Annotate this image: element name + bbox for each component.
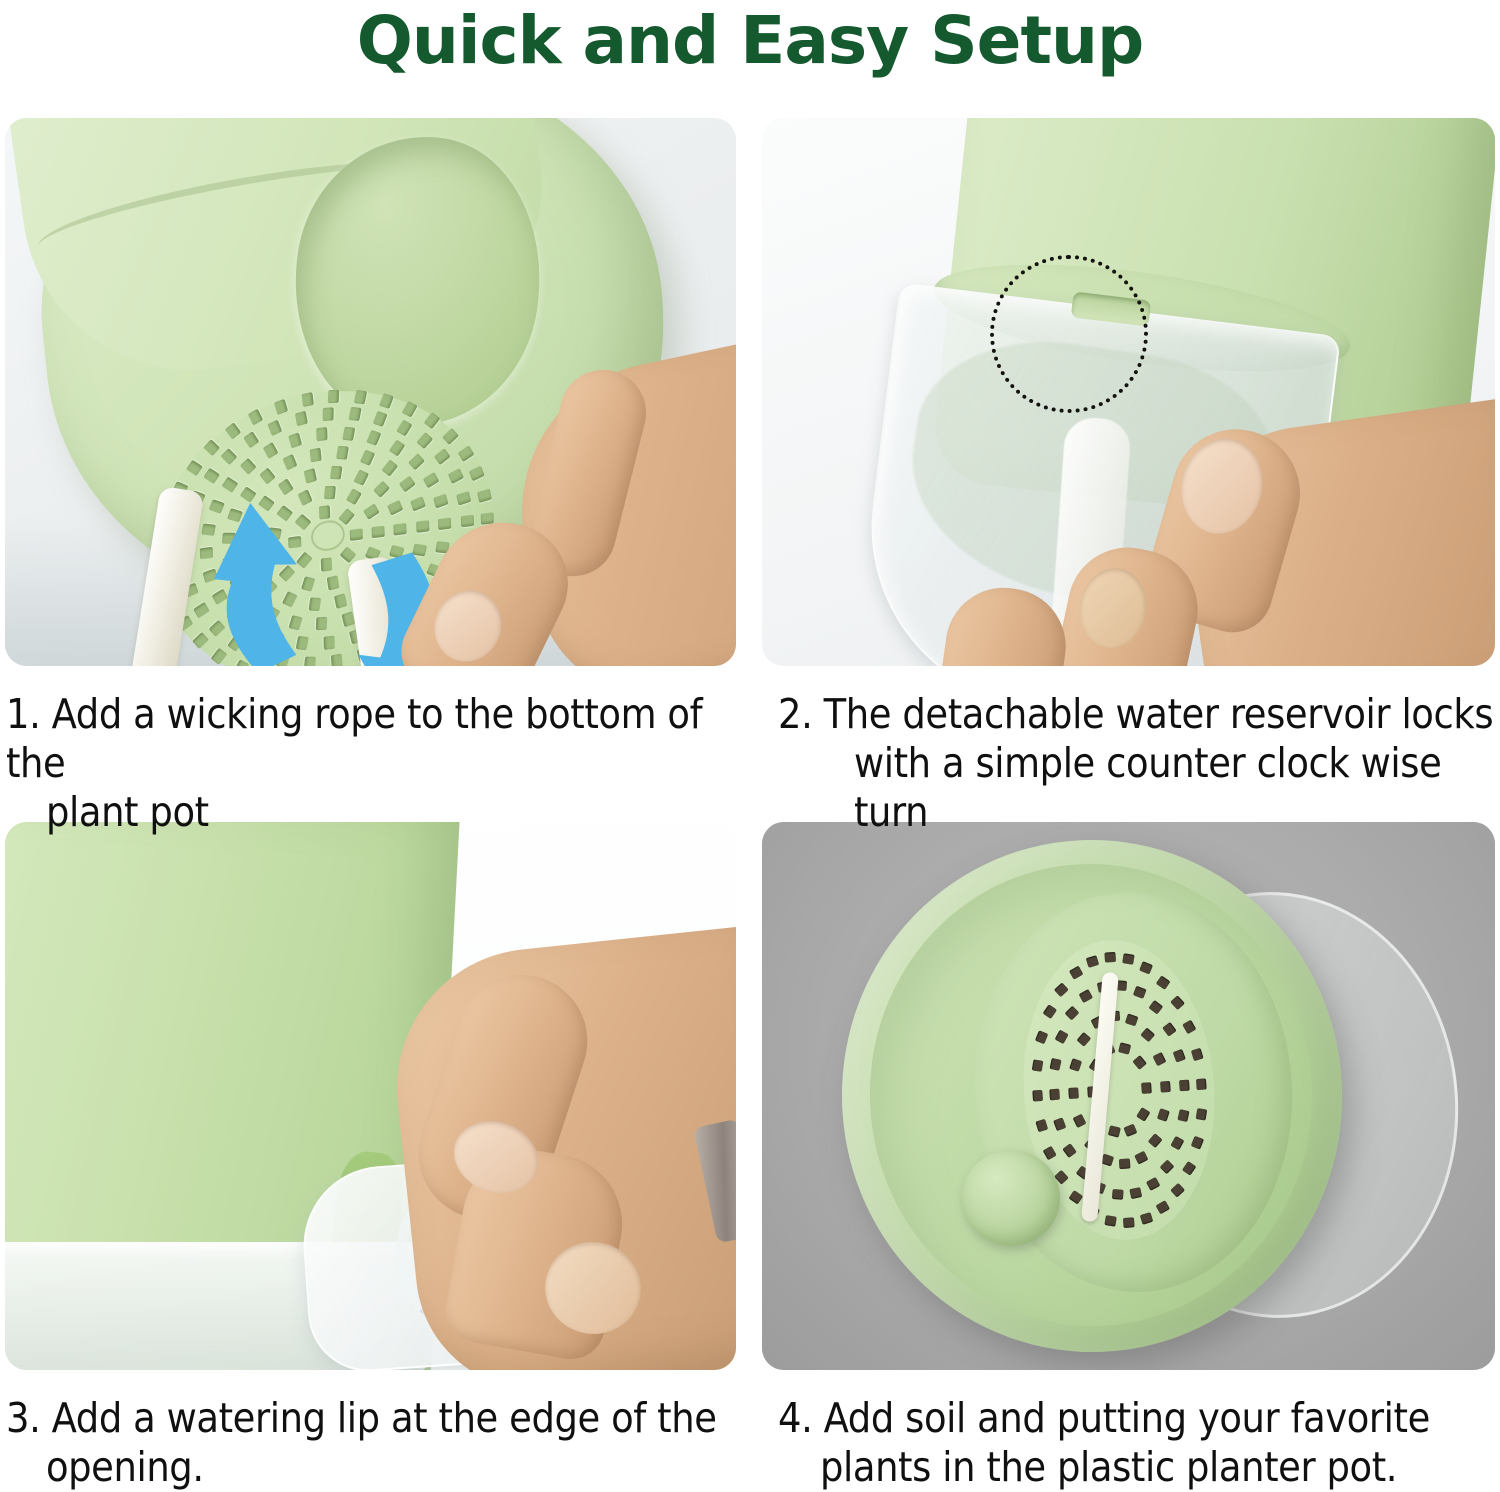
mesh-hole	[1035, 1030, 1048, 1044]
mesh-hole	[1122, 953, 1134, 965]
caption-line-2: with a simple counter clock wise turn	[778, 739, 1500, 837]
mesh-hole	[330, 466, 343, 480]
mesh-hole	[310, 447, 322, 462]
mesh-hole	[1050, 1058, 1062, 1071]
mesh-hole	[1069, 1058, 1082, 1072]
mesh-hole	[1146, 1177, 1160, 1191]
mesh-hole	[301, 392, 313, 407]
mesh-hole	[394, 523, 407, 536]
mesh-hole	[1086, 955, 1099, 968]
mesh-hole	[348, 407, 361, 421]
mesh-hole	[1156, 975, 1171, 989]
blue-arrow-up-icon	[194, 490, 332, 666]
mesh-hole	[1136, 1107, 1150, 1122]
mesh-hole	[1157, 1109, 1170, 1123]
mesh-hole	[1156, 1200, 1171, 1214]
mesh-hole	[1079, 989, 1093, 1003]
mesh-hole	[1190, 1048, 1203, 1061]
mesh-hole	[319, 505, 330, 519]
mesh-hole	[1140, 1212, 1153, 1225]
mesh-hole	[1170, 995, 1185, 1010]
mesh-hole	[1196, 1078, 1207, 1090]
mesh-hole	[1123, 1218, 1135, 1229]
mesh-hole	[1132, 1056, 1147, 1071]
mesh-hole	[1141, 1082, 1152, 1094]
caption-line-1: 2. The detachable water reservoir locks	[778, 690, 1493, 738]
mesh-hole	[1173, 1049, 1186, 1063]
step-4-image	[762, 822, 1495, 1370]
mesh-hole	[1069, 1087, 1080, 1099]
mesh-hole	[372, 526, 385, 539]
caption-line-2: plant pot	[6, 788, 746, 837]
caption-line-1: 4. Add soil and putting your favorite	[778, 1394, 1430, 1442]
mesh-hole	[342, 426, 355, 440]
mesh-hole	[1130, 1187, 1143, 1199]
mesh-hole	[1160, 1159, 1175, 1174]
mesh-hole	[1043, 1146, 1057, 1161]
setup-instructions-page: Quick and Easy Setup	[0, 0, 1500, 1477]
mesh-hole	[1104, 952, 1116, 963]
mesh-hole	[1053, 1117, 1066, 1131]
caption-line-1: 3. Add a watering lip at the edge of the	[6, 1394, 717, 1442]
mesh-hole	[1118, 1042, 1131, 1054]
mesh-hole	[349, 528, 362, 541]
mesh-hole	[1112, 1189, 1124, 1200]
step-2-image	[762, 118, 1495, 666]
mesh-hole	[1171, 1136, 1185, 1150]
mesh-hole	[438, 517, 451, 530]
mesh-hole	[1104, 1215, 1116, 1227]
mesh-hole	[1133, 986, 1147, 999]
dotted-highlight-circle	[990, 255, 1148, 413]
mesh-hole	[1141, 1028, 1156, 1043]
mesh-hole	[1160, 1081, 1171, 1093]
step-3-caption: 3. Add a watering lip at the edge of the…	[6, 1394, 746, 1492]
step-4-caption: 4. Add soil and putting your favorite pl…	[778, 1394, 1500, 1492]
step-2-caption: 2. The detachable water reservoir locks …	[778, 690, 1500, 837]
mesh-hole	[1036, 1118, 1049, 1131]
mesh-hole	[1043, 1004, 1057, 1019]
mesh-hole	[1068, 966, 1083, 980]
mesh-hole	[1062, 1143, 1077, 1158]
mesh-hole	[324, 486, 336, 499]
mesh-hole	[1195, 1108, 1207, 1120]
mesh-hole	[1054, 1030, 1068, 1044]
mesh-hole	[1153, 1051, 1167, 1065]
mesh-hole	[1135, 1150, 1149, 1164]
mesh-hole	[461, 515, 474, 528]
mesh-hole	[1190, 1136, 1203, 1150]
step-1-image	[5, 118, 736, 666]
mesh-hole	[336, 446, 349, 460]
mesh-hole	[1170, 1183, 1185, 1198]
mesh-hole	[1050, 1089, 1061, 1101]
mesh-hole	[1108, 1126, 1121, 1138]
mesh-hole	[1149, 1000, 1164, 1015]
mesh-hole	[1182, 1020, 1196, 1035]
mesh-hole	[1182, 1161, 1196, 1176]
mesh-hole	[1140, 961, 1154, 974]
step-1-caption: 1. Add a wicking rope to the bottom of t…	[6, 690, 746, 837]
mesh-hole	[322, 407, 333, 421]
pot-knob	[962, 1150, 1060, 1246]
mesh-hole	[1073, 1114, 1087, 1128]
mesh-hole	[416, 520, 429, 533]
mesh-hole	[1119, 1159, 1131, 1170]
caption-line-2: opening.	[6, 1443, 746, 1492]
mesh-hole	[1179, 1080, 1190, 1092]
mesh-hole	[316, 427, 327, 441]
page-title: Quick and Easy Setup	[0, 2, 1500, 79]
mesh-hole	[321, 558, 332, 572]
mesh-hole	[1069, 1190, 1084, 1204]
mesh-hole	[1162, 1022, 1177, 1037]
mesh-hole	[1033, 1090, 1044, 1102]
mesh-hole	[1064, 1006, 1079, 1021]
mesh-hole	[1054, 982, 1069, 997]
mesh-hole	[1125, 1014, 1139, 1027]
mesh-hole	[1032, 1060, 1044, 1072]
caption-line-1: 1. Add a wicking rope to the bottom of t…	[6, 690, 702, 787]
mesh-hole	[1076, 1032, 1091, 1047]
mesh-hole	[1124, 1124, 1138, 1137]
mesh-hole	[1177, 1109, 1189, 1122]
step-3-image	[5, 822, 736, 1370]
mesh-hole	[328, 389, 340, 403]
mesh-hole	[1148, 1133, 1163, 1148]
caption-line-2: plants in the plastic planter pot.	[778, 1443, 1500, 1492]
